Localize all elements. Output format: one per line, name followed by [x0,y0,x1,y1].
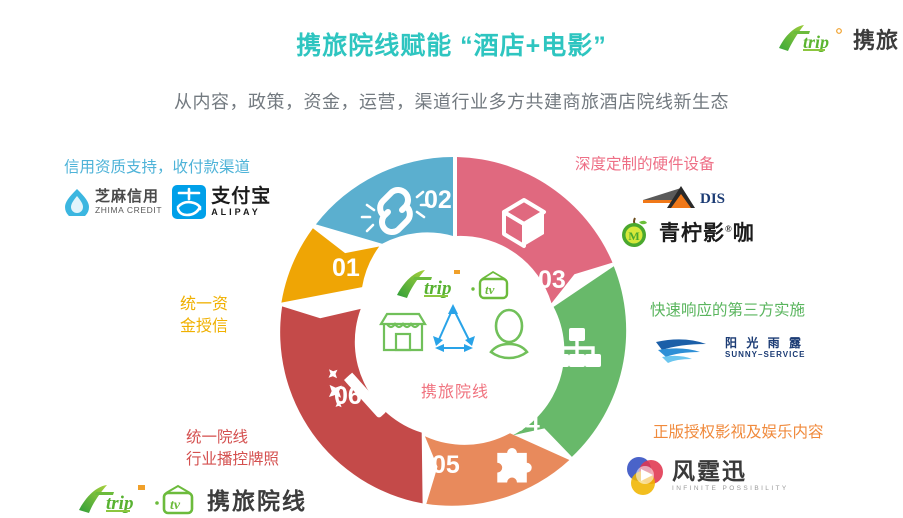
callout-hardware-logos: DIS [641,184,755,214]
callout-implementation-heading: 快速响应的第三方实施 [650,298,805,320]
callout-funding-line2: 金授信 [180,316,228,338]
wheel-number-04: 04 [512,409,540,437]
sunny-swoosh-icon [654,332,720,364]
infographic-canvas: 携旅院线赋能 “酒店+电影” 从内容，政策，资金，运营，渠道行业多方共建商旅酒店… [0,0,903,518]
wheel-hub: trip tv [367,268,543,408]
hub-relationship-diagram [375,302,535,376]
logo-alipay: 支付宝 ALIPAY [172,185,271,219]
logo-alipay-en: ALIPAY [211,208,271,217]
callout-content-heading: 正版授权影视及娱乐内容 [653,420,824,442]
wheel-number-01: 01 [332,254,360,282]
logo-zhima-credit: 芝麻信用 ZHIMA CREDIT [64,188,162,216]
page-title: 携旅院线赋能 “酒店+电影” [0,26,903,62]
wheel-segment-02[interactable]: 02 [316,157,453,244]
logo-fengtingxun: 风霆迅 INFINITE POSSIBILITY [623,454,789,498]
dis-mountain-icon [641,184,695,214]
wheel-number-06: 06 [334,382,362,410]
store-icon [381,314,425,350]
callout-funding-line1: 统一资 [180,294,228,316]
callout-implementation-logos: 阳 光 雨 露 SUNNY–SERVICE [654,332,805,364]
logo-sunny-en: SUNNY–SERVICE [725,351,805,359]
logo-dis-text: DIS [700,191,725,208]
callout-qingning-logo: M 青柠影®咖 [619,216,755,248]
hub-label: 携旅院线 [421,378,489,402]
logo-qingning-cn: 青柠影®咖 [659,217,755,247]
wheel-number-05: 05 [432,451,460,479]
brand-logo-top-right: trip 携旅 [777,22,899,56]
logo-sunny-cn: 阳 光 雨 露 [725,337,805,349]
svg-text:tv: tv [170,498,181,513]
person-icon [491,310,527,358]
lime-icon: M [619,216,649,248]
callout-credit: 信用资质支持，收付款渠道 芝麻信用 ZHIMA CREDIT [64,155,271,219]
callout-implementation: 快速响应的第三方实施 阳 光 雨 露 SUNNY–SERVICE [650,298,805,364]
callout-credit-logos: 芝麻信用 ZHIMA CREDIT 支付宝 ALIPAY [64,185,271,219]
htrip-tv-wordmark-icon: trip tv [78,483,200,515]
callout-hardware: 深度定制的硬件设备 DIS M 青柠影®咖 [575,152,755,248]
brand-cn-label: 携旅 [853,23,899,55]
callout-funding: 统一资 金授信 [180,294,228,338]
wheel-number-02: 02 [424,186,452,214]
callout-credit-heading: 信用资质支持，收付款渠道 [64,155,271,177]
callout-license-line1: 统一院线 [186,427,279,449]
wheel-segment-05[interactable]: 05 [425,433,570,506]
svg-text:tv: tv [485,282,495,297]
logo-fengtingxun-cn: 风霆迅 [672,460,789,483]
fengtingxun-icon [623,454,667,498]
logo-sunny-service: 阳 光 雨 露 SUNNY–SERVICE [654,332,805,364]
htrip-wordmark-icon: trip [777,22,849,56]
callout-content-logos: 风霆迅 INFINITE POSSIBILITY [623,454,824,498]
callout-hardware-heading: 深度定制的硬件设备 [575,152,755,174]
svg-text:M: M [628,229,639,243]
callout-license: 统一院线 行业播控牌照 [186,427,279,471]
triangle-arrows-icon [433,304,475,352]
puzzle-piece-icon [497,448,531,482]
zhima-drop-icon [64,188,90,216]
logo-zhima-en: ZHIMA CREDIT [95,206,162,215]
logo-alipay-cn: 支付宝 [211,187,271,206]
callout-license-line2: 行业播控牌照 [186,449,279,471]
logo-fengtingxun-en: INFINITE POSSIBILITY [672,486,789,493]
alipay-icon [172,185,206,219]
htrip-tv-hub-icon: trip tv [396,268,514,302]
logo-zhima-cn: 芝麻信用 [95,189,162,204]
logo-dis: DIS [641,184,725,214]
callout-content: 正版授权影视及娱乐内容 风霆迅 INFINITE POSSIBILITY [653,420,824,498]
page-subtitle: 从内容，政策，资金，运营，渠道行业多方共建商旅酒店院线新生态 [0,88,903,114]
